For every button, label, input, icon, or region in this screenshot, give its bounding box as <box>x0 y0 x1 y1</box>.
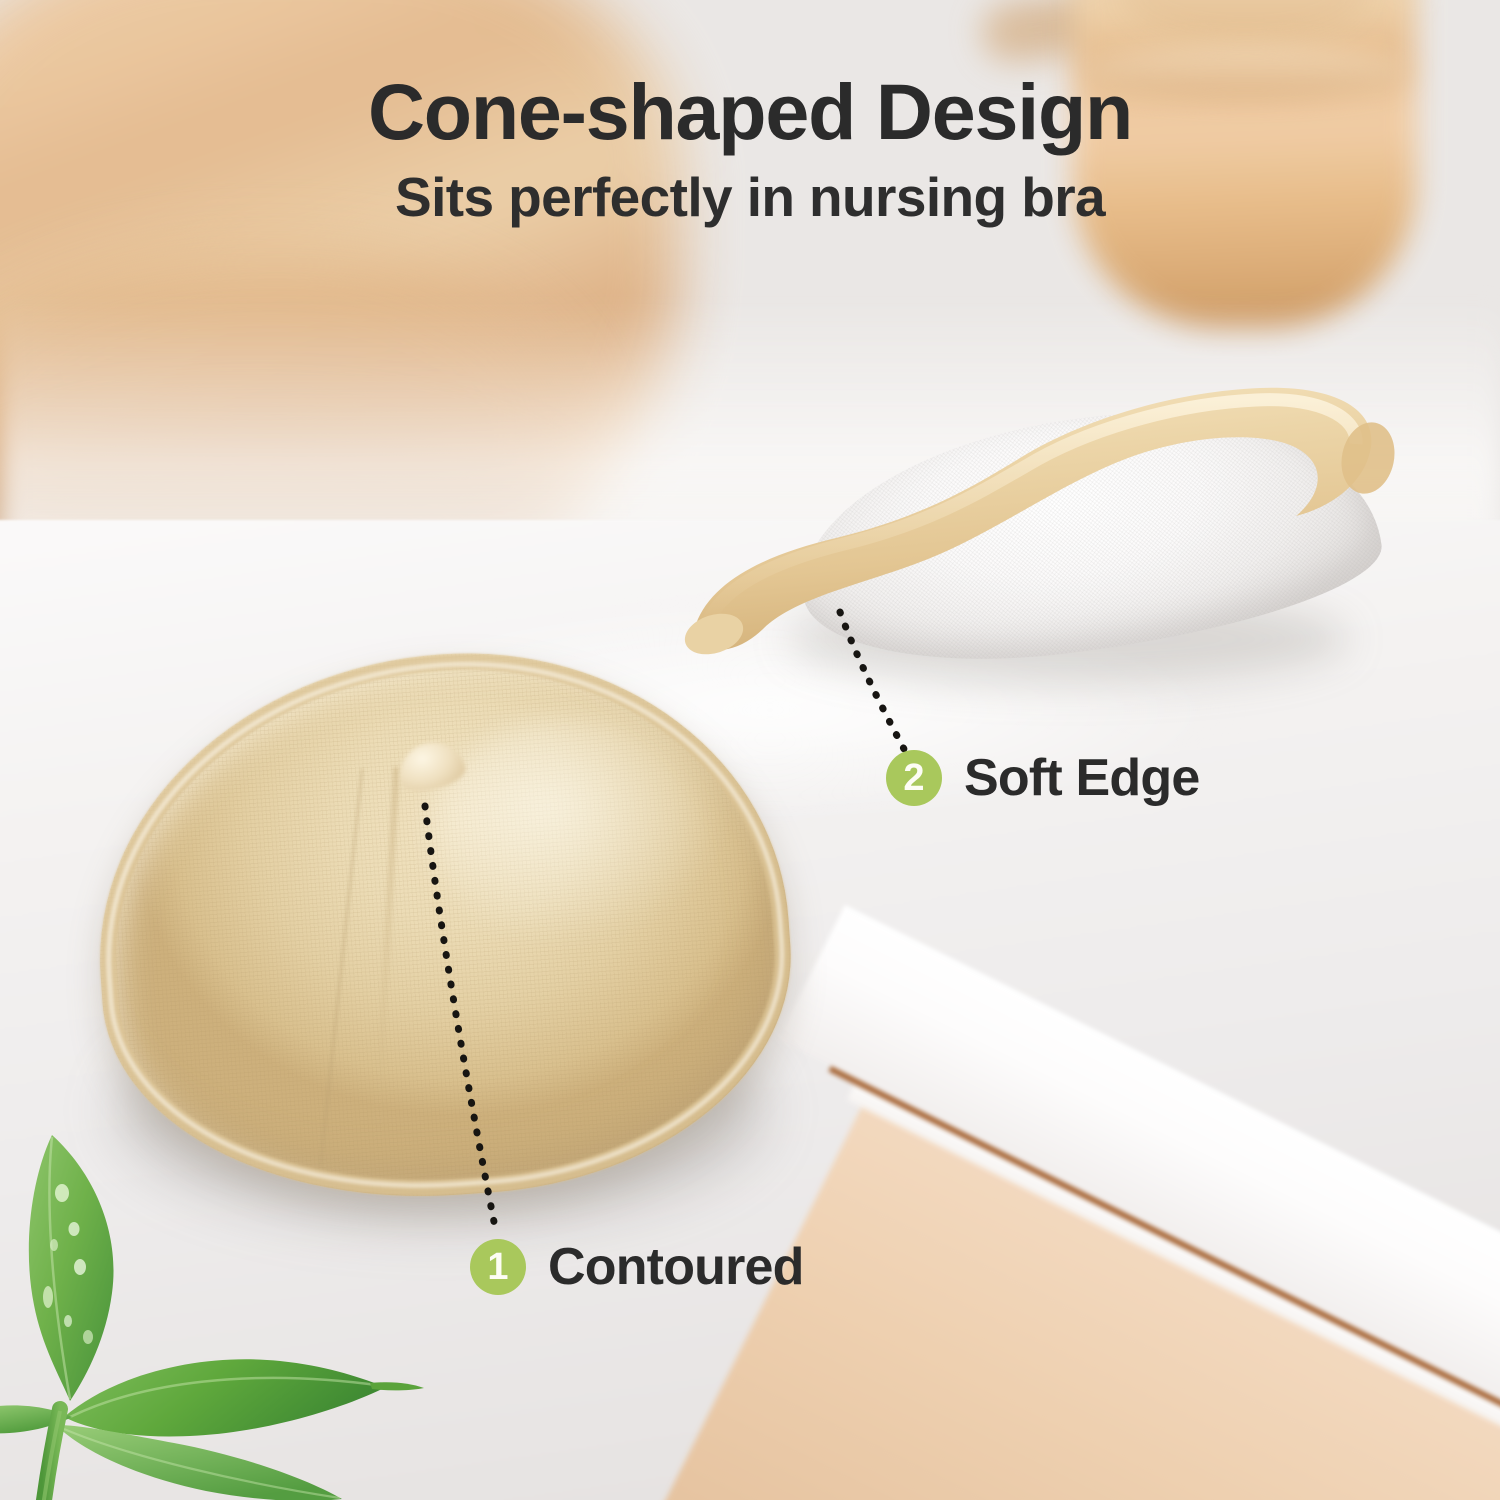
callout-badge-1: 1 <box>470 1239 526 1295</box>
nursing-pad-side-view <box>668 366 1408 696</box>
heading-block: Cone-shaped Design Sits perfectly in nur… <box>0 72 1500 226</box>
callout-contoured[interactable]: 1 Contoured <box>470 1237 804 1297</box>
pad-soft-edge <box>668 366 1408 696</box>
bamboo-leaves-icon <box>0 1125 460 1500</box>
callout-label-1: Contoured <box>548 1237 804 1297</box>
page-subtitle: Sits perfectly in nursing bra <box>0 169 1500 227</box>
page-title: Cone-shaped Design <box>0 72 1500 153</box>
callout-badge-2: 2 <box>886 750 942 806</box>
product-infographic: Cone-shaped Design Sits perfectly in nur… <box>0 0 1500 1500</box>
callout-soft-edge[interactable]: 2 Soft Edge <box>886 748 1199 808</box>
callout-label-2: Soft Edge <box>964 748 1199 808</box>
